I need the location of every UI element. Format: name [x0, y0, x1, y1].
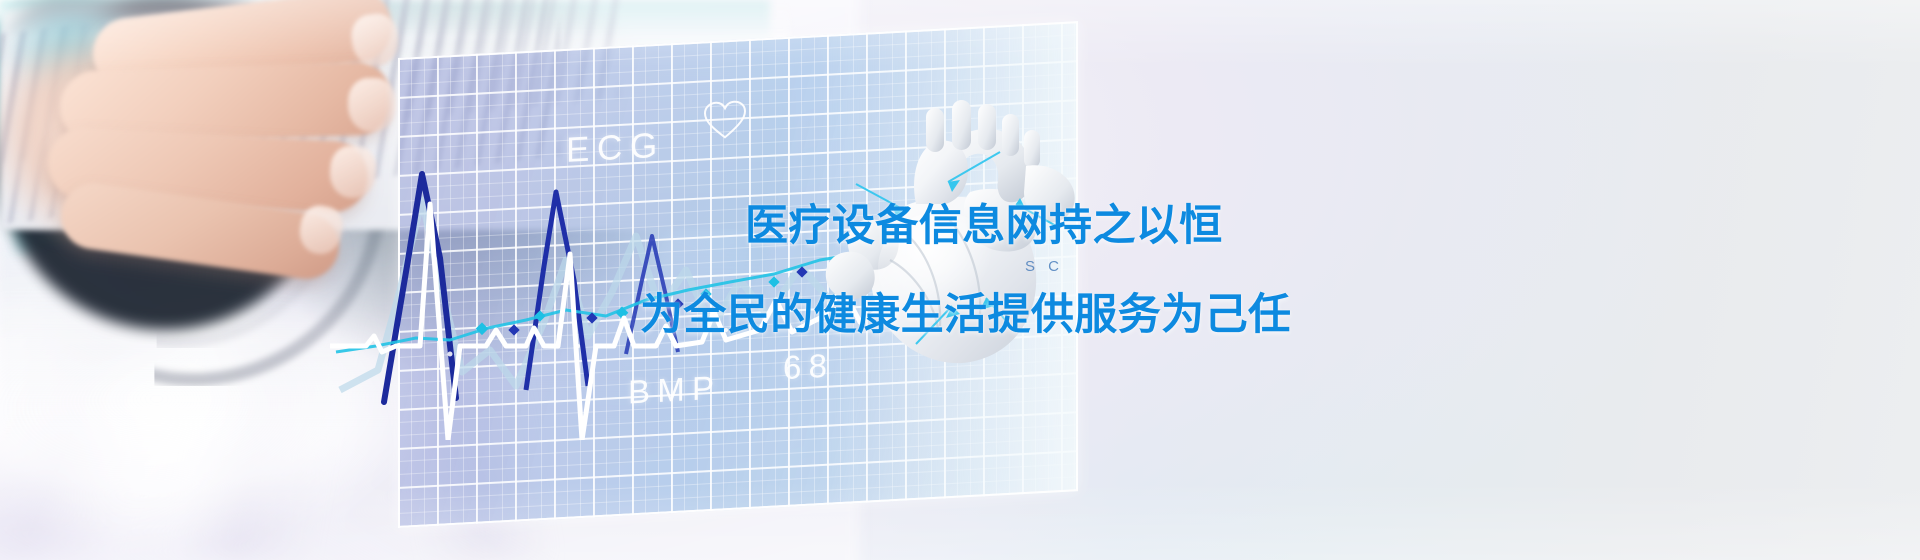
heart-pulmonary-trunk	[914, 141, 968, 204]
headline-line-1: 医疗设备信息网持之以恒	[745, 200, 1845, 252]
fingernail	[348, 78, 396, 132]
heart-outline-icon	[703, 99, 747, 141]
medical-hero-banner: ECG BMP 68	[0, 0, 1920, 560]
headline-line-2: 为全民的健康生活提供服务为己任	[640, 289, 1845, 341]
headline-block: 医疗设备信息网持之以恒 为全民的健康生活提供服务为己任	[745, 200, 1845, 341]
